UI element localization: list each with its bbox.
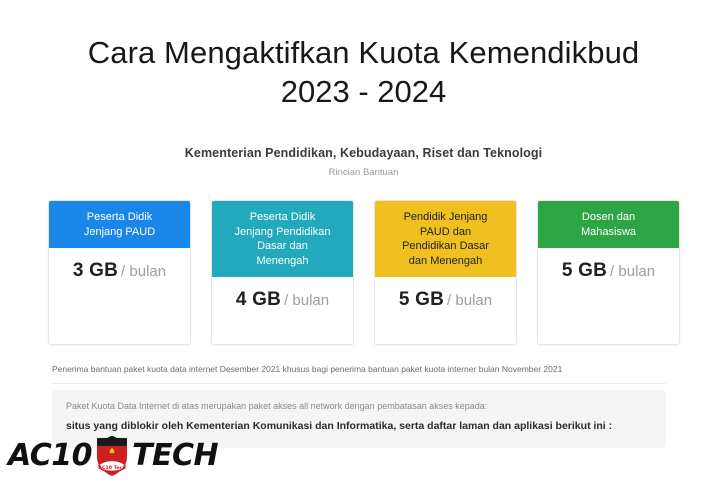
quota-card: Dosen dan Mahasiswa 5 GB/ bulan bbox=[537, 200, 680, 345]
quota-period: / bulan bbox=[284, 292, 329, 309]
quota-card-header-line: Jenjang PAUD bbox=[55, 225, 184, 240]
logo-text-left: AC10 bbox=[8, 441, 92, 471]
quota-card-header-line: Pendidikan Dasar bbox=[381, 239, 510, 254]
logo-text-right: TECH bbox=[132, 441, 218, 471]
quota-card: Peserta Didik Jenjang Pendidikan Dasar d… bbox=[211, 200, 354, 345]
quota-card-header-line: Jenjang Pendidikan bbox=[218, 225, 347, 240]
quota-card-header-line: PAUD dan bbox=[381, 225, 510, 240]
quota-card-body: 3 GB/ bulan bbox=[49, 248, 190, 282]
title-line-1: Cara Mengaktifkan Kuota Kemendikbud bbox=[0, 34, 727, 72]
title-line-2: 2023 - 2024 bbox=[0, 72, 727, 112]
quota-card-header: Peserta Didik Jenjang Pendidikan Dasar d… bbox=[212, 201, 353, 277]
notice-line-1: Paket Kuota Data Internet di atas merupa… bbox=[66, 400, 666, 413]
watermark-logo: AC10 AC10 Tech TECH bbox=[8, 434, 218, 478]
quota-card-header-line: Dosen dan bbox=[544, 210, 673, 225]
infographic-page: Cara Mengaktifkan Kuota Kemendikbud 2023… bbox=[0, 0, 727, 484]
quota-card-body: 5 GB/ bulan bbox=[538, 248, 679, 282]
quota-card-header-line: Dasar dan bbox=[218, 239, 347, 254]
ministry-name: Kementerian Pendidikan, Kebudayaan, Rise… bbox=[0, 146, 727, 160]
quota-amount: 5 GB bbox=[562, 260, 607, 281]
footnote-divider bbox=[52, 383, 666, 384]
crest-label: AC10 Tech bbox=[93, 466, 131, 471]
quota-card-header-line: Peserta Didik bbox=[55, 210, 184, 225]
quota-card-header: Pendidik Jenjang PAUD dan Pendidikan Das… bbox=[375, 201, 516, 277]
quota-period: / bulan bbox=[447, 292, 492, 309]
quota-card-header-line: Pendidik Jenjang bbox=[381, 210, 510, 225]
quota-card-header: Dosen dan Mahasiswa bbox=[538, 201, 679, 248]
quota-card-header: Peserta Didik Jenjang PAUD bbox=[49, 201, 190, 248]
subtitle-block: Kementerian Pendidikan, Kebudayaan, Rise… bbox=[0, 146, 727, 178]
quota-card: Pendidik Jenjang PAUD dan Pendidikan Das… bbox=[374, 200, 517, 345]
quota-card-list: Peserta Didik Jenjang PAUD 3 GB/ bulan P… bbox=[48, 200, 680, 345]
quota-card-header-line: Menengah bbox=[218, 254, 347, 269]
quota-period: / bulan bbox=[121, 263, 166, 280]
shield-crest-icon: AC10 Tech bbox=[93, 435, 131, 477]
quota-card-body: 4 GB/ bulan bbox=[212, 277, 353, 311]
quota-card: Peserta Didik Jenjang PAUD 3 GB/ bulan bbox=[48, 200, 191, 345]
quota-card-body: 5 GB/ bulan bbox=[375, 277, 516, 311]
quota-card-header-line: dan Menengah bbox=[381, 254, 510, 269]
section-caption: Rincian Bantuan bbox=[0, 167, 727, 178]
quota-card-header-line: Peserta Didik bbox=[218, 210, 347, 225]
quota-period: / bulan bbox=[610, 263, 655, 280]
quota-amount: 3 GB bbox=[73, 260, 118, 281]
footnote-text: Penerima bantuan paket kuota data intern… bbox=[52, 363, 672, 375]
quota-amount: 4 GB bbox=[236, 289, 281, 310]
quota-card-header-line: Mahasiswa bbox=[544, 225, 673, 240]
notice-line-2: situs yang diblokir oleh Kementerian Kom… bbox=[66, 419, 666, 433]
quota-amount: 5 GB bbox=[399, 289, 444, 310]
page-title: Cara Mengaktifkan Kuota Kemendikbud 2023… bbox=[0, 34, 727, 112]
